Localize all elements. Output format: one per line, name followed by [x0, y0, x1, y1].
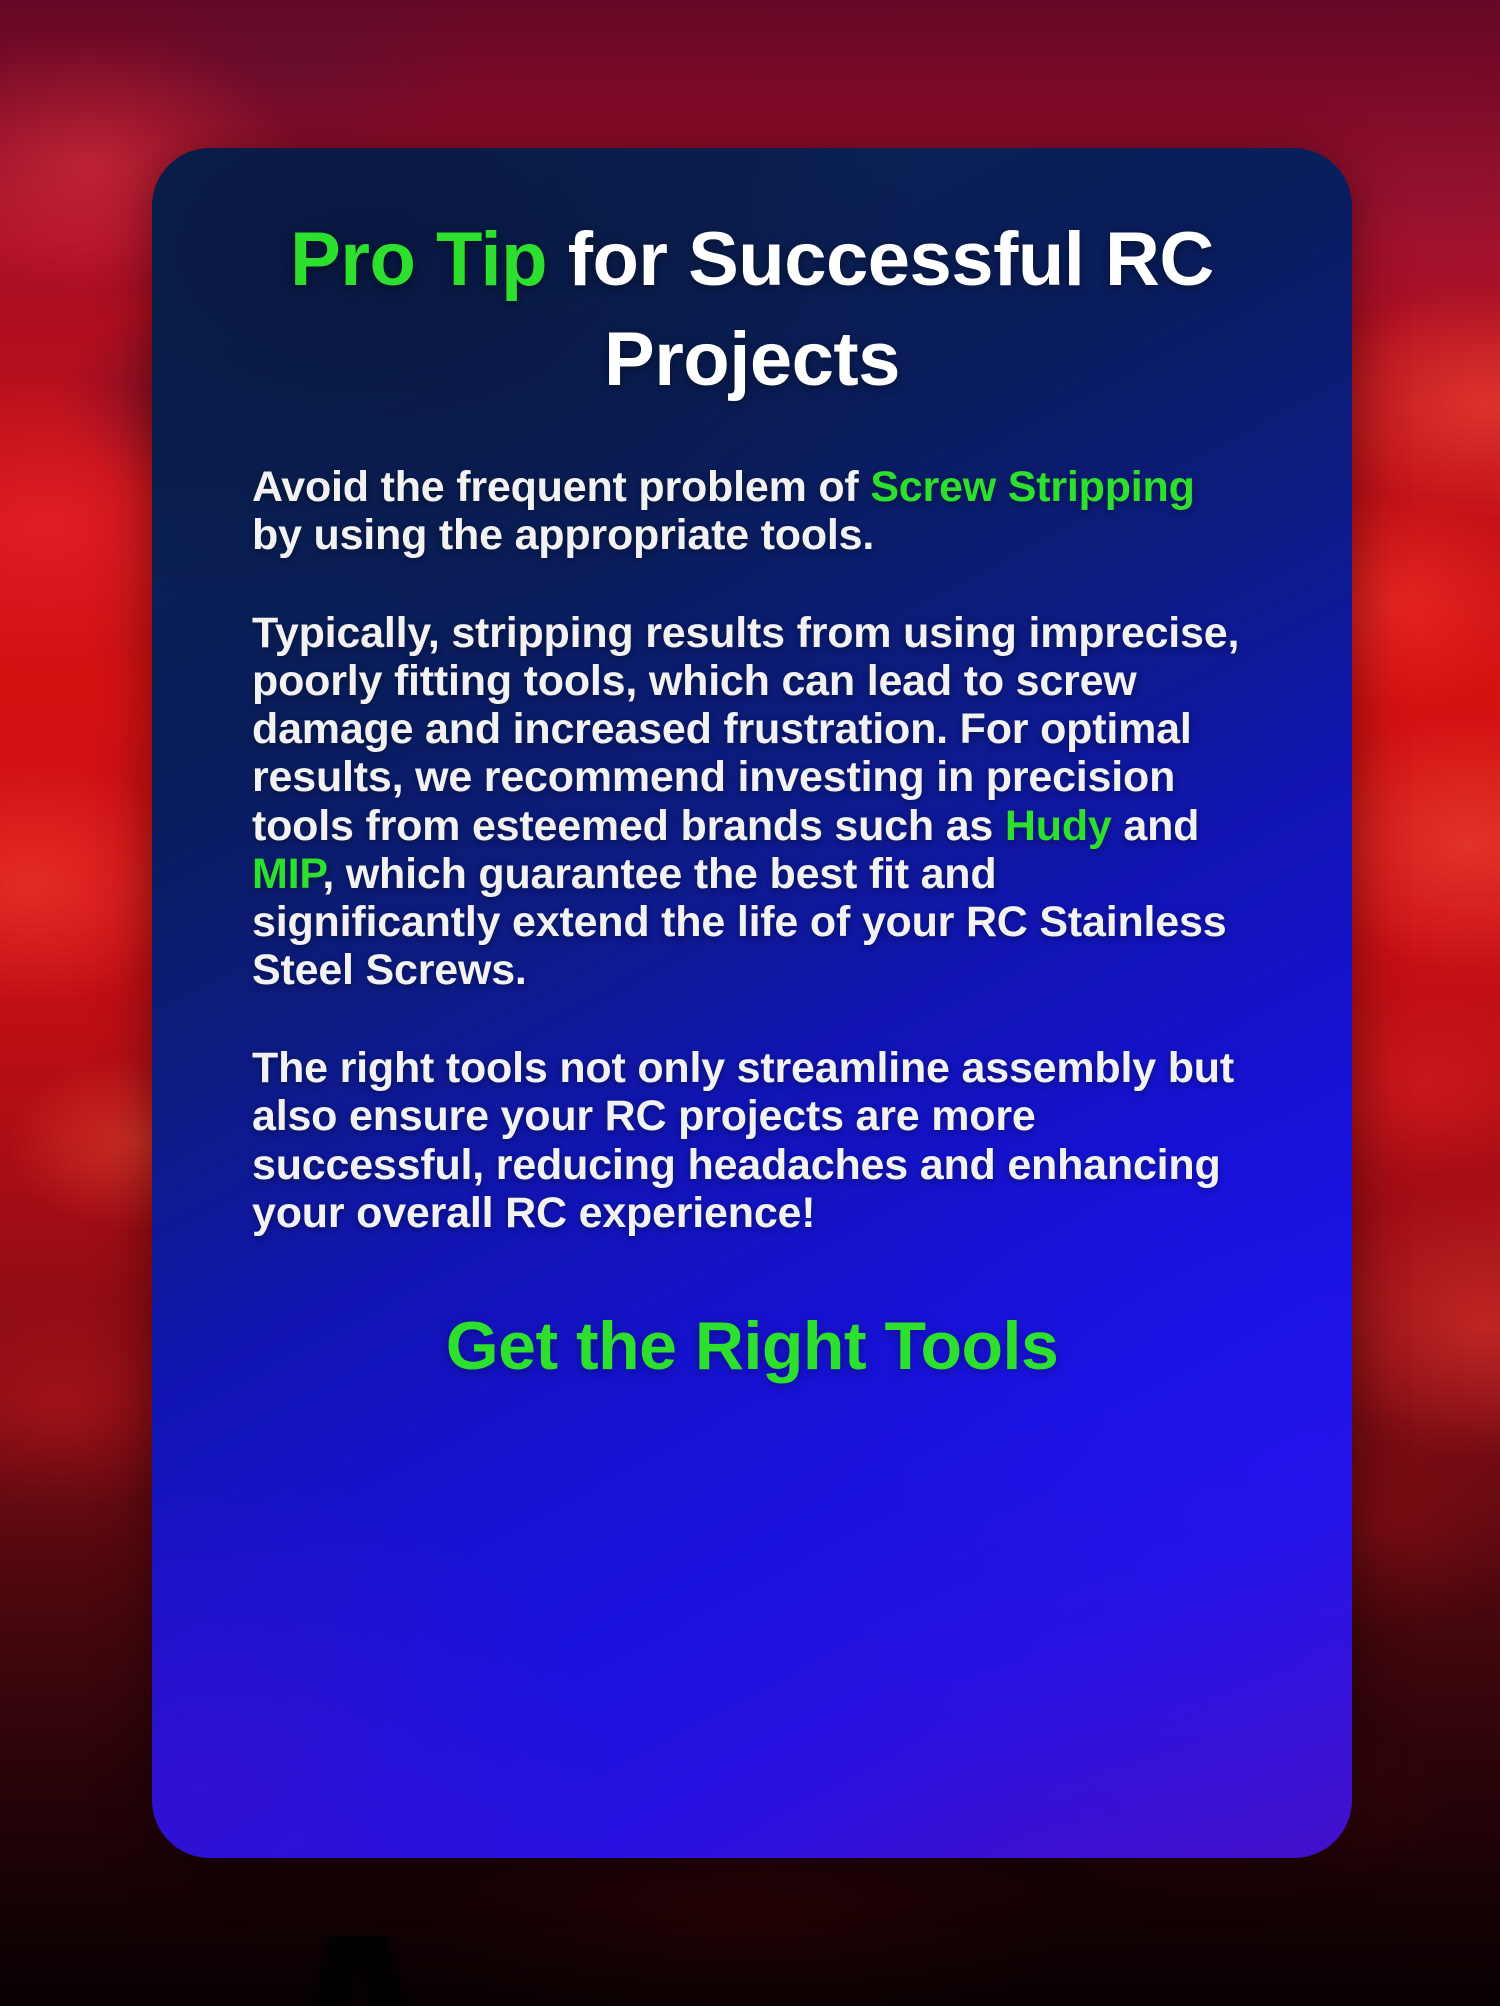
- text-segment: by using the appropriate tools.: [252, 511, 874, 559]
- background-silhouette: [150, 1936, 530, 2006]
- poster-canvas: Pro Tip for Successful RC Projects Avoid…: [0, 0, 1500, 2006]
- text-segment: Avoid the frequent problem of: [252, 463, 870, 511]
- highlight-screw-stripping: Screw Stripping: [870, 463, 1194, 511]
- get-the-right-tools-cta[interactable]: Get the Right Tools: [216, 1237, 1288, 1384]
- pro-tip-card: Pro Tip for Successful RC Projects Avoid…: [152, 148, 1352, 1858]
- highlight-brand-mip: MIP: [252, 850, 322, 898]
- text-segment: and: [1112, 802, 1200, 850]
- text-segment: The right tools not only streamline asse…: [252, 1044, 1234, 1236]
- card-content: Pro Tip for Successful RC Projects Avoid…: [216, 148, 1288, 1384]
- paragraph-explanation: Typically, stripping results from using …: [252, 609, 1252, 994]
- paragraph-benefit: The right tools not only streamline asse…: [252, 1044, 1252, 1237]
- paragraph-intro: Avoid the frequent problem of Screw Stri…: [252, 463, 1252, 559]
- title-highlight: Pro Tip: [290, 217, 547, 302]
- body-copy: Avoid the frequent problem of Screw Stri…: [216, 411, 1288, 1237]
- text-segment: , which guarantee the best fit and signi…: [252, 850, 1226, 994]
- title-rest: for Successful RC Projects: [547, 217, 1214, 402]
- page-title: Pro Tip for Successful RC Projects: [216, 148, 1288, 411]
- highlight-brand-hudy: Hudy: [1005, 802, 1112, 850]
